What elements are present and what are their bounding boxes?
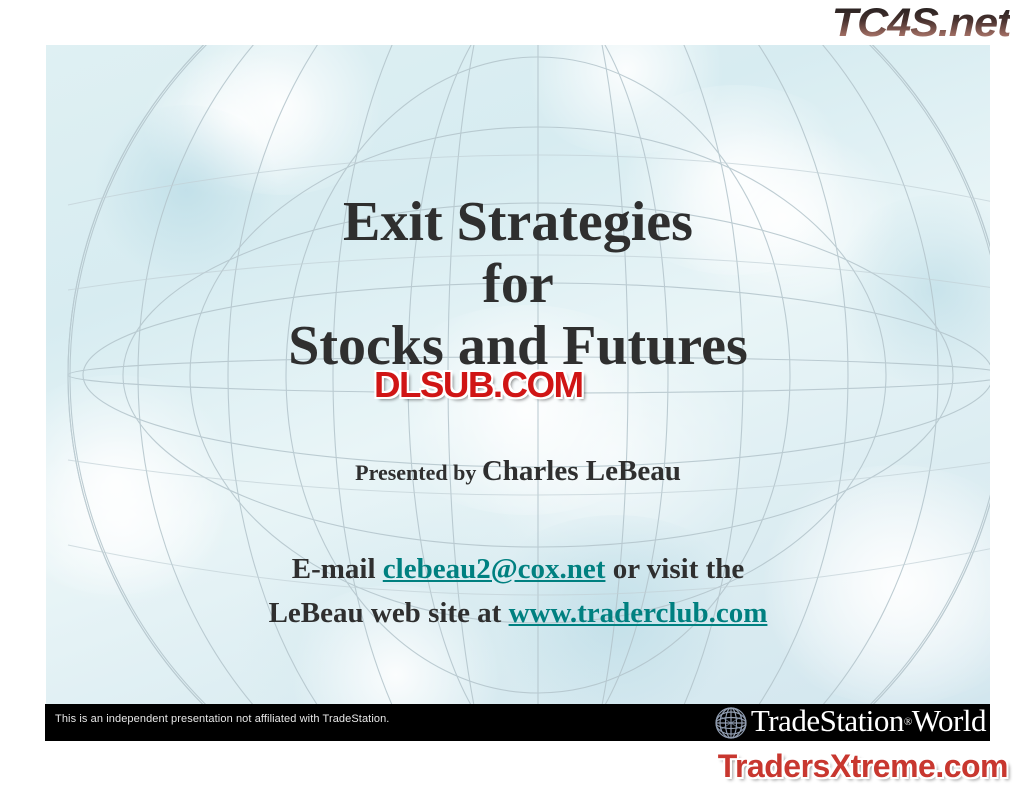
website-link[interactable]: www.traderclub.com <box>509 597 768 629</box>
tradestationworld-logo: TradeStation®World <box>709 704 986 741</box>
contact-block: E-mail clebeau2@cox.net or visit the LeB… <box>46 547 990 635</box>
page-canvas: Exit Strategies for Stocks and Futures P… <box>0 0 1024 791</box>
globe-icon <box>709 706 753 740</box>
presenter-name: Charles LeBeau <box>482 455 681 487</box>
contact-line-website: LeBeau web site at www.traderclub.com <box>46 591 990 635</box>
tradestationworld-wordmark: TradeStation®World <box>751 705 986 738</box>
email-link[interactable]: clebeau2@cox.net <box>383 553 606 585</box>
presenter-prefix: Presented by <box>355 460 482 485</box>
contact-line-email: E-mail clebeau2@cox.net or visit the <box>46 547 990 591</box>
disclaimer-text: This is an independent presentation not … <box>55 713 389 725</box>
watermark-tc4s: TC4S.net <box>831 2 1010 44</box>
footer-bar: This is an independent presentation not … <box>45 704 990 741</box>
watermark-dlsub: DLSUB.COM <box>374 365 583 405</box>
logo-text-a: TradeStation <box>751 704 904 738</box>
email-suffix-label: or visit the <box>605 553 744 585</box>
email-prefix-label: E-mail <box>292 553 383 585</box>
logo-text-b: World <box>912 704 986 738</box>
presenter-line: Presented by Charles LeBeau <box>46 455 990 488</box>
title-line-2: for <box>46 253 990 315</box>
title-line-1: Exit Strategies <box>46 191 990 253</box>
registered-mark-icon: ® <box>904 716 912 728</box>
watermark-tradersxtreme: TradersXtreme.com <box>718 748 1008 784</box>
slide-title: Exit Strategies for Stocks and Futures <box>46 191 990 377</box>
website-prefix-label: LeBeau web site at <box>269 597 509 629</box>
